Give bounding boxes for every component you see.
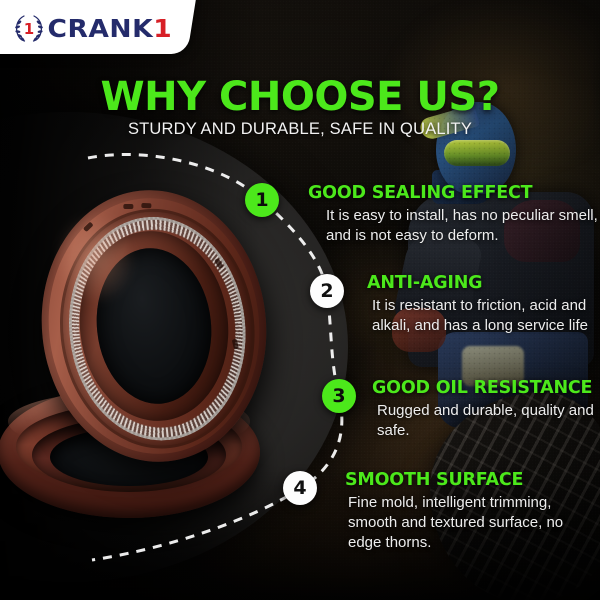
feature-badge-3: 3: [322, 379, 356, 413]
feature-item-2: ANTI-AGING It is resistant to friction, …: [367, 273, 600, 336]
svg-text:1: 1: [24, 20, 34, 38]
seal-marking: [141, 203, 151, 208]
infographic-canvas: 1 CRANK1 WHY CHOOSE US? STURDY AND DURAB…: [0, 0, 600, 600]
feature-badge-2: 2: [310, 274, 344, 308]
oil-seal-standing: [28, 179, 279, 473]
feature-item-4: SMOOTH SURFACE Fine mold, intelligent tr…: [345, 470, 600, 552]
brand-logo[interactable]: 1 CRANK1: [12, 8, 169, 48]
feature-badge-4: 4: [283, 471, 317, 505]
brand-name-main: CRANK: [47, 14, 153, 43]
laurel-wreath-icon: 1: [12, 12, 46, 44]
brand-wordmark: CRANK1: [47, 16, 172, 41]
feature-heading-4: SMOOTH SURFACE: [345, 470, 600, 490]
feature-heading-1: GOOD SEALING EFFECT: [308, 183, 600, 203]
feature-item-3: GOOD OIL RESISTANCE Rugged and durable, …: [372, 378, 600, 441]
feature-body-1: It is easy to install, has no peculiar s…: [326, 206, 600, 246]
feature-heading-2: ANTI-AGING: [367, 273, 600, 293]
feature-body-3: Rugged and durable, quality and safe.: [377, 401, 600, 441]
feature-heading-3: GOOD OIL RESISTANCE: [372, 378, 600, 398]
page-subtitle: STURDY AND DURABLE, SAFE IN QUALITY: [0, 120, 600, 139]
seal-marking: [123, 204, 133, 209]
page-title: WHY CHOOSE US?: [0, 74, 600, 120]
feature-body-2: It is resistant to friction, acid and al…: [372, 296, 600, 336]
feature-body-4: Fine mold, intelligent trimming, smooth …: [348, 493, 600, 552]
feature-item-1: GOOD SEALING EFFECT It is easy to instal…: [308, 183, 600, 246]
brand-name-accent: 1: [153, 14, 172, 43]
product-image-oil-seals: [0, 190, 276, 540]
feature-badge-1: 1: [245, 183, 279, 217]
